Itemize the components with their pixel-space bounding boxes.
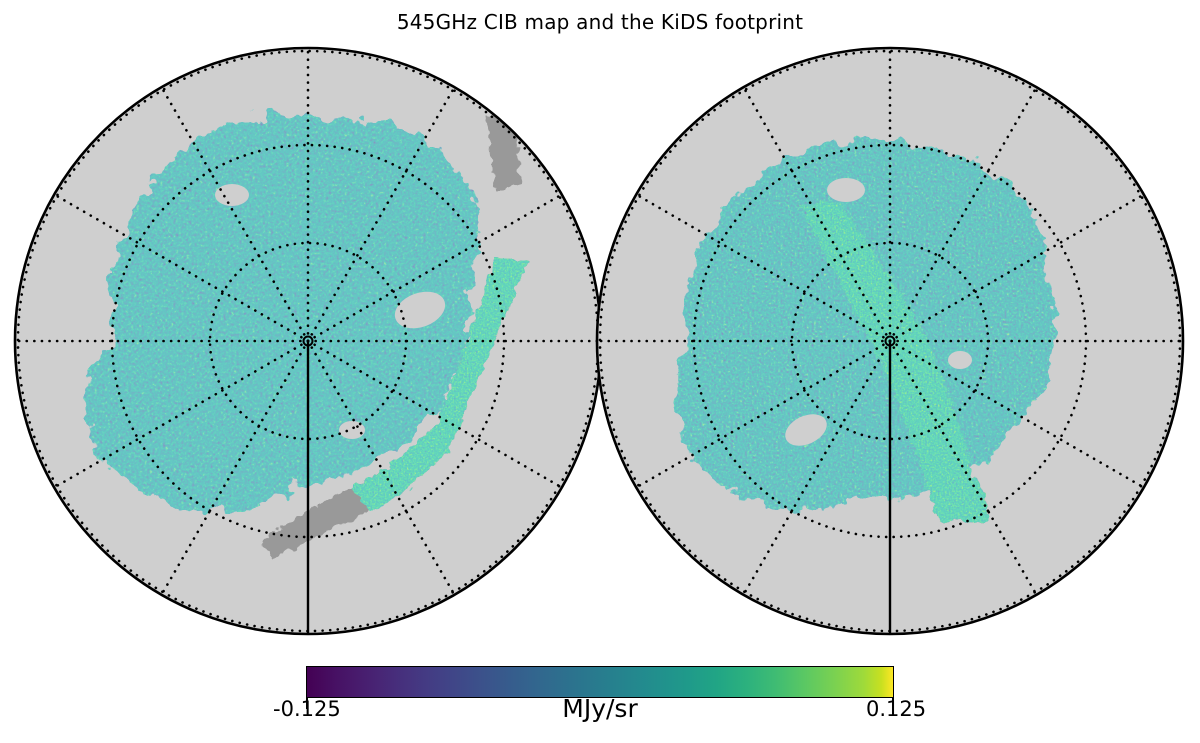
colorbar-unit-label: MJy/sr bbox=[0, 694, 1200, 723]
right-hemisphere-panel bbox=[592, 45, 1192, 640]
left-hemisphere-panel bbox=[10, 45, 610, 640]
figure-canvas: 545GHz CIB map and the KiDS footprint bbox=[0, 0, 1200, 743]
sky-map-plot bbox=[0, 0, 1200, 743]
